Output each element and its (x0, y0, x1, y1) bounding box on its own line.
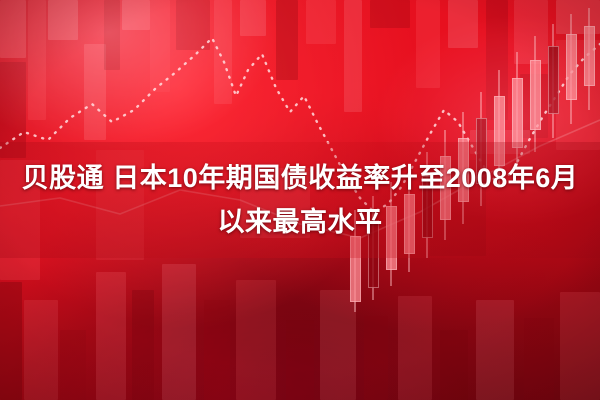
news-thumbnail-image: 贝股通 日本10年期国债收益率升至2008年6月 以来最高水平 (0, 0, 600, 400)
headline-banner: 贝股通 日本10年期国债收益率升至2008年6月 以来最高水平 (0, 142, 600, 258)
headline-line-2: 以来最高水平 (218, 200, 383, 244)
headline-line-1: 贝股通 日本10年期国债收益率升至2008年6月 (22, 156, 579, 200)
